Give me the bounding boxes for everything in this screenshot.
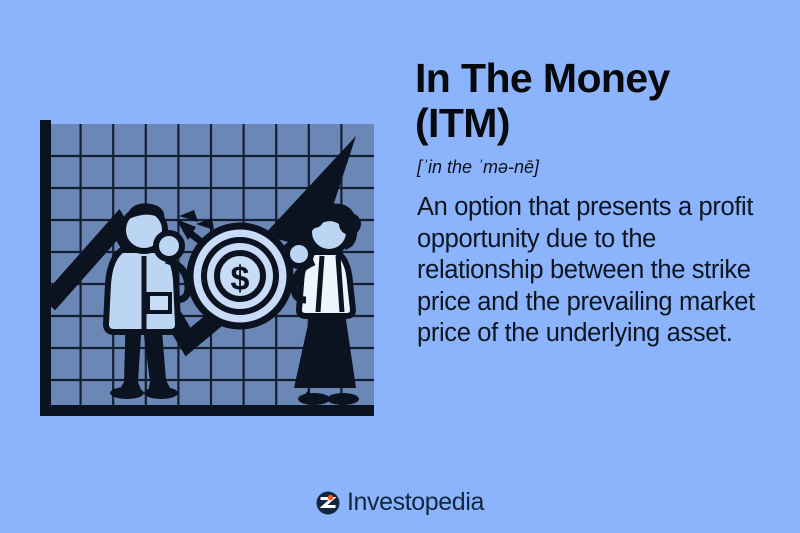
dollar-target-dartboard: $ bbox=[190, 226, 290, 326]
investopedia-circle-swoosh-icon bbox=[316, 491, 340, 515]
pronunciation-text: [ˈin the ˈmə-nē] bbox=[417, 157, 775, 179]
definition-card: $ bbox=[0, 0, 800, 533]
stock-chart-target-investors-illustration: $ bbox=[26, 106, 386, 426]
definition-text: An option that presents a profit opportu… bbox=[417, 192, 775, 350]
target-dollar-symbol: $ bbox=[231, 260, 250, 298]
page-title: In The Money (ITM) bbox=[415, 56, 775, 145]
brand-wordmark: Investopedia bbox=[347, 488, 484, 517]
brand-logo: Investopedia bbox=[0, 488, 800, 517]
term-text-column: In The Money (ITM) [ˈin the ˈmə-nē] An o… bbox=[415, 56, 775, 350]
